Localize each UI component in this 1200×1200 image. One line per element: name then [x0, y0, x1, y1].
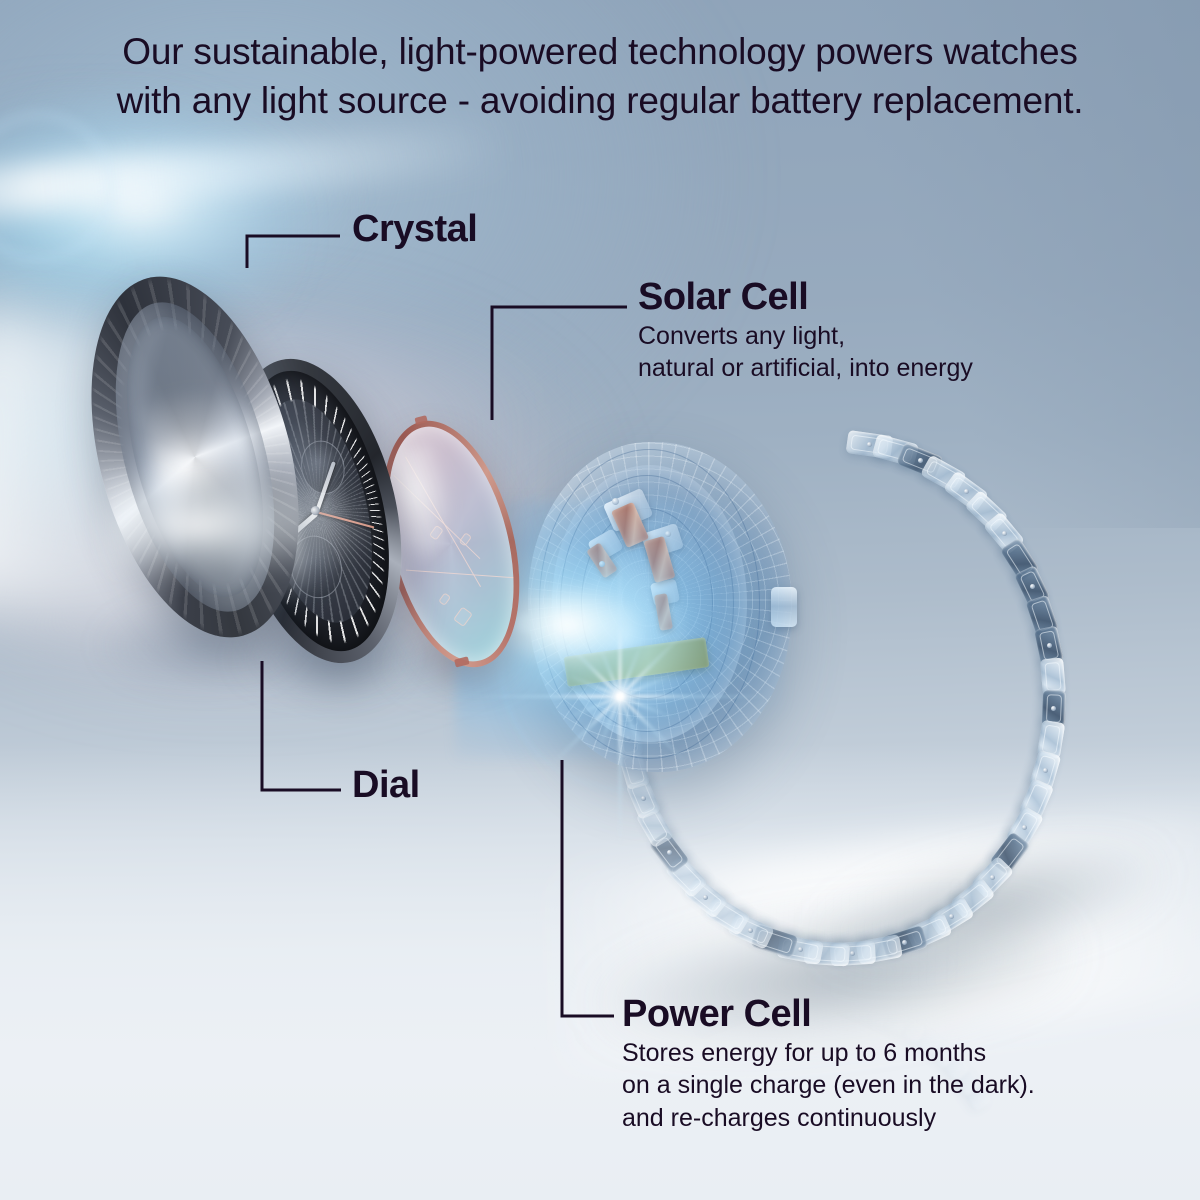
callout-dial: Dial [352, 766, 420, 806]
callout-power-cell-desc-line-1: Stores energy for up to 6 months [622, 1037, 1035, 1070]
headline-line-2: with any light source - avoiding regular… [24, 77, 1176, 126]
callout-crystal: Crystal [352, 210, 477, 250]
headline: Our sustainable, light-powered technolog… [0, 28, 1200, 126]
callout-dial-title: Dial [352, 766, 420, 806]
crystal-lens-flare [108, 460, 408, 590]
bracelet-pin [1043, 768, 1048, 773]
callout-solar-cell-title: Solar Cell [638, 278, 973, 318]
bracelet-pin [964, 489, 969, 494]
callout-solar-cell-desc: Converts any light, natural or artificia… [638, 320, 973, 385]
bracelet-pin [902, 940, 907, 945]
solar-segment-3 [438, 592, 451, 606]
bracelet-pin [641, 796, 646, 801]
bracelet-link-wireframe [1045, 662, 1062, 691]
callout-crystal-title: Crystal [352, 210, 477, 250]
callout-power-cell-title: Power Cell [622, 995, 1035, 1035]
bracelet-pin [798, 947, 803, 952]
callout-power-cell-desc-line-2: on a single charge (even in the dark). [622, 1069, 1035, 1102]
callout-power-cell-desc-line-3: and re-charges continuously [622, 1102, 1035, 1135]
headline-line-1: Our sustainable, light-powered technolog… [24, 28, 1176, 77]
solar-segment-4 [453, 606, 473, 627]
solar-seam-3 [406, 570, 516, 579]
bracelet-pin [748, 928, 753, 933]
callout-solar-cell: Solar Cell Converts any light, natural o… [638, 278, 973, 385]
callout-solar-cell-desc-line-2: natural or artificial, into energy [638, 352, 973, 385]
callout-power-cell: Power Cell Stores energy for up to 6 mon… [622, 995, 1035, 1134]
callout-solar-cell-desc-line-1: Converts any light, [638, 320, 973, 353]
infographic-canvas: Our sustainable, light-powered technolog… [0, 0, 1200, 1200]
callout-power-cell-desc: Stores energy for up to 6 months on a si… [622, 1037, 1035, 1135]
